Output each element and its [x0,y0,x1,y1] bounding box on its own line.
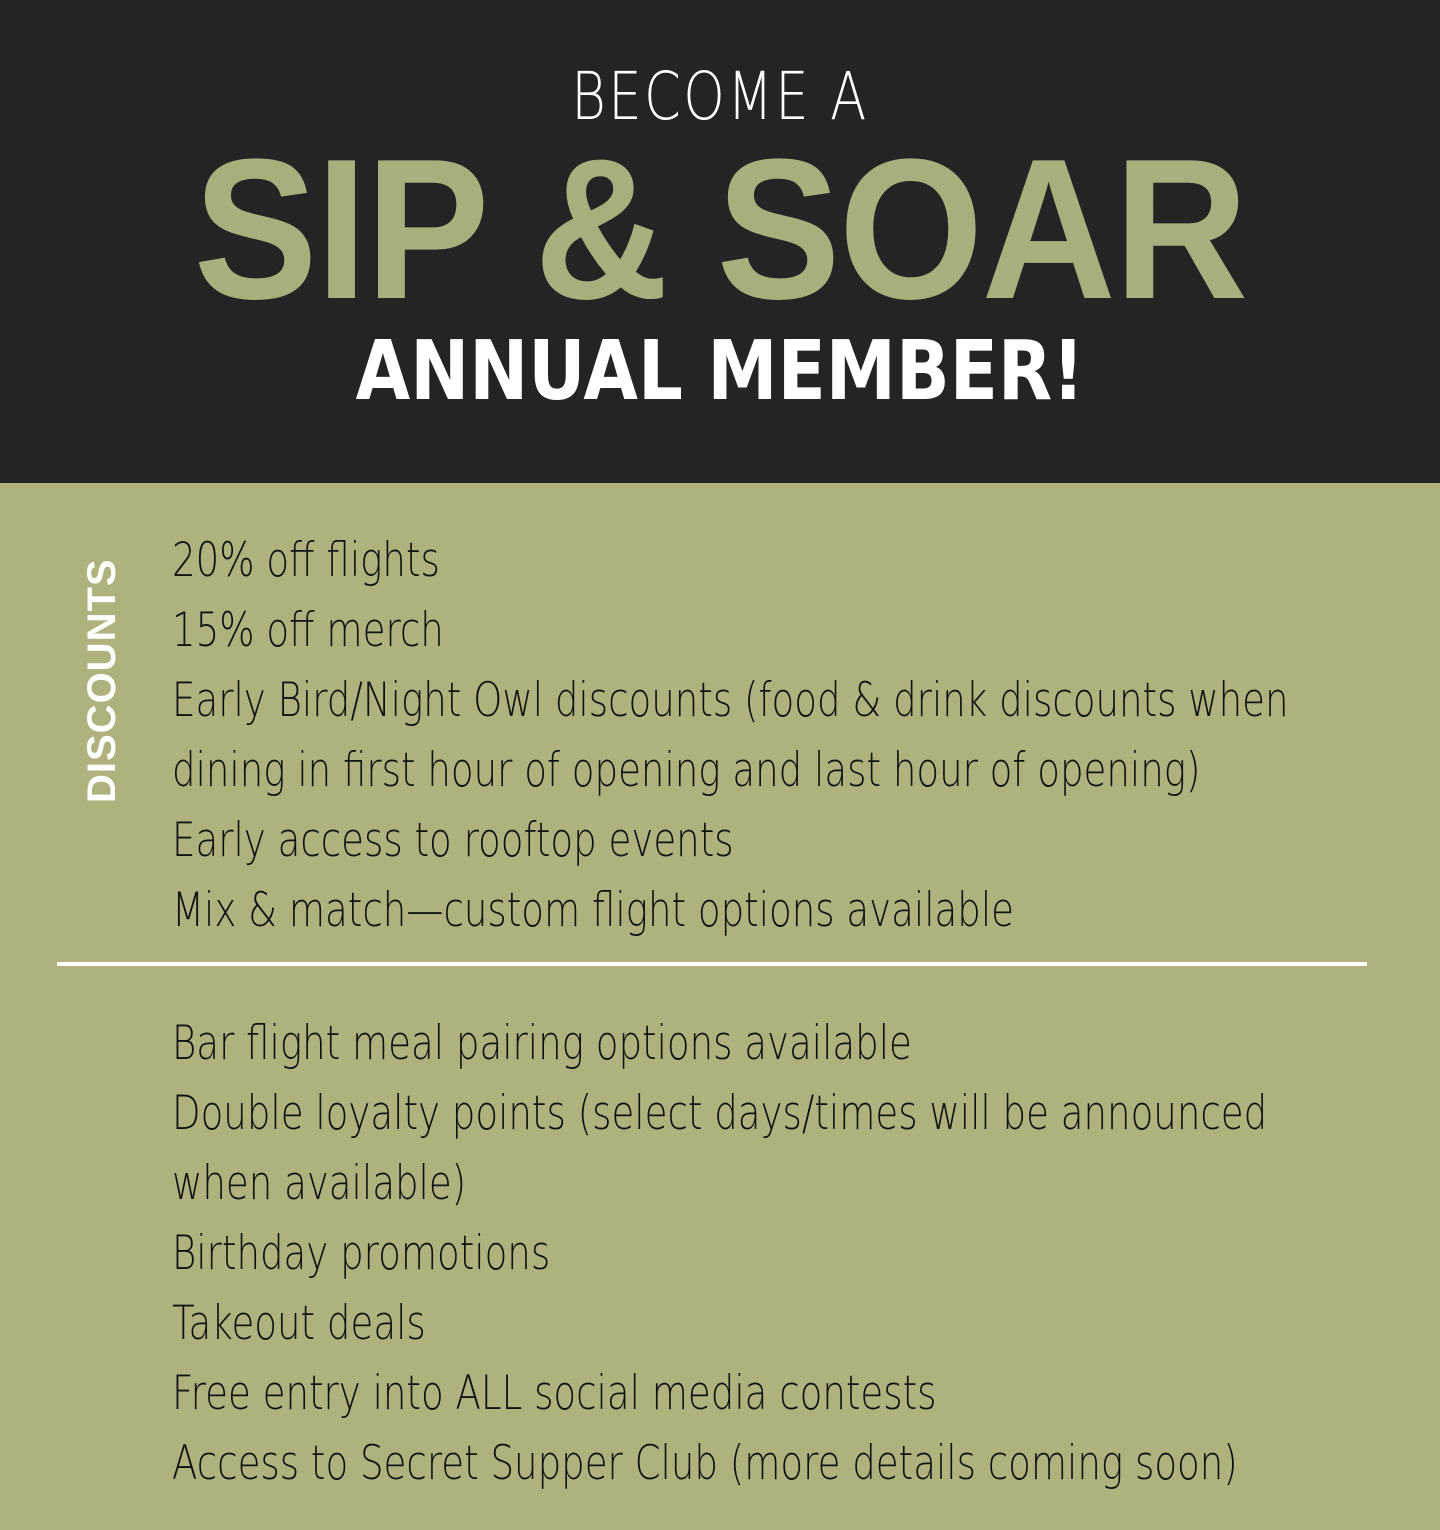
list-item: Bar flight meal pairing options availabl… [172,1009,1373,1079]
poster-body: DISCOUNTS 20% off flights 15% off merch … [0,483,1440,1530]
section-divider [57,962,1367,966]
list-item: Mix & match—custom flight options availa… [172,876,1373,946]
poster-header: BECOME A SIP & SOAR ANNUAL MEMBER! [0,0,1440,483]
promotions-list: Bar flight meal pairing options availabl… [172,1009,1372,1499]
list-item: Early access to rooftop events [172,806,1373,876]
list-item: Early Bird/Night Owl discounts (food & d… [172,666,1373,806]
list-item: Double loyalty points (select days/times… [172,1079,1373,1219]
list-item: Access to Secret Supper Club (more detai… [172,1429,1373,1499]
membership-promo-poster: BECOME A SIP & SOAR ANNUAL MEMBER! DISCO… [0,0,1440,1530]
section-label-discounts: DISCOUNTS [82,558,122,803]
list-item: 20% off flights [172,526,1373,596]
header-subtitle: ANNUAL MEMBER! [101,327,1339,417]
list-item: Takeout deals [172,1289,1373,1359]
discounts-list: 20% off flights 15% off merch Early Bird… [172,526,1372,946]
list-item: Free entry into ALL social media contest… [172,1359,1373,1429]
list-item: Birthday promotions [172,1219,1373,1289]
brand-title: SIP & SOAR [50,130,1389,330]
list-item: 15% off merch [172,596,1373,666]
